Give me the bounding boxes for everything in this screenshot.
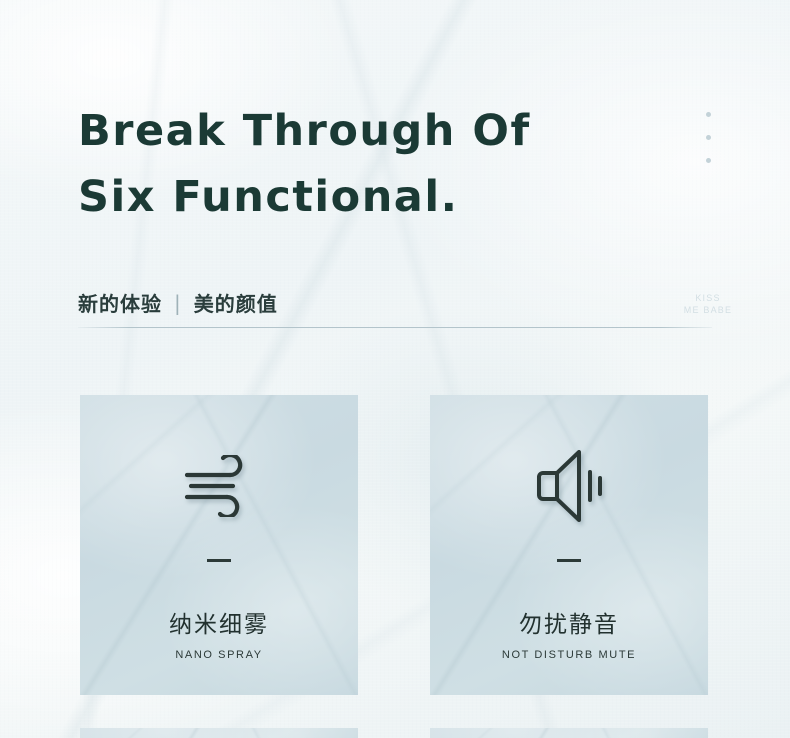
card-title: 纳米细雾 [169,605,269,639]
watermark-line-2: ME BABE [668,304,748,316]
speaker-mute-icon [529,443,609,529]
product-feature-page: Break Through Of Six Functional. 新的体验 | … [0,0,790,738]
dot-icon [706,158,711,163]
feature-card-nano-spray[interactable]: 纳米细雾 NANO SPRAY [80,395,358,695]
feature-card-next-row-right[interactable] [430,728,708,738]
subhead-left-text: 新的体验 [78,288,162,317]
feature-card-next-row-left[interactable] [80,728,358,738]
page-headline: Break Through Of Six Functional. [78,98,531,230]
watermark-line-1: KISS [668,292,748,304]
headline-line-1: Break Through Of [78,98,531,164]
card-divider [557,559,581,562]
feature-card-not-disturb-mute[interactable]: 勿扰静音 NOT DISTURB MUTE [430,395,708,695]
subhead-right-text: 美的颜值 [194,288,278,317]
card-title: 勿扰静音 [519,605,619,639]
sub-headline: 新的体验 | 美的颜值 [78,288,278,317]
dot-icon [706,112,711,117]
section-divider [78,327,712,328]
card-divider [207,559,231,562]
subhead-separator: | [174,291,182,315]
wind-mist-icon [181,443,257,529]
card-subtitle: NANO SPRAY [175,649,262,661]
dot-icon [706,135,711,140]
brand-watermark: KISS ME BABE [668,292,748,316]
decorative-dots [706,112,711,163]
card-subtitle: NOT DISTURB MUTE [502,649,636,661]
headline-line-2: Six Functional. [78,164,531,230]
